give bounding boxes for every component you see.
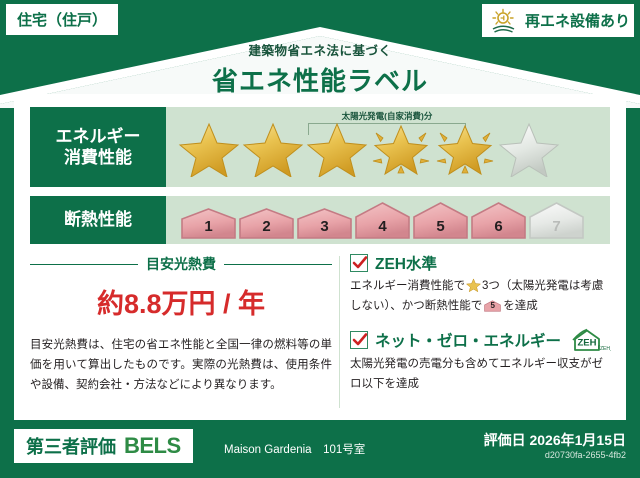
insulation-level-1-value: 1	[180, 218, 237, 235]
net-zero-checkbox[interactable]	[350, 331, 368, 349]
heading-rule-right	[224, 264, 332, 265]
zeh-desc-part1: エネルギー消費性能で	[350, 280, 465, 292]
insulation-level-7-value: 7	[528, 218, 585, 235]
insulation-level-4: 4	[354, 201, 411, 240]
inline-insulation-badge-icon: 5	[484, 299, 501, 313]
net-zero-title: ネット・ゼロ・エネルギー	[375, 329, 561, 351]
insulation-level-1: 1	[180, 207, 237, 240]
utility-cost-heading-text: 目安光熱費	[146, 254, 216, 274]
energy-star-4	[370, 117, 432, 177]
zeh-logo-icon: ZEH 「ZEH」	[571, 328, 611, 352]
zeh-desc-starcount: 3つ（太陽光発電	[482, 280, 569, 292]
title-block: 建築物省エネ法に基づく 省エネ性能ラベル	[0, 40, 640, 98]
lower-section: 目安光熱費 約8.8万円 / 年 目安光熱費は、住宅の省エネ性能と全国一律の燃料…	[14, 252, 626, 420]
check-icon	[351, 255, 369, 271]
insulation-level-6: 6	[470, 201, 527, 240]
energy-label-line1: エネルギー	[56, 126, 141, 147]
inline-insulation-badge-value: 5	[484, 299, 501, 313]
svg-text:ZEH: ZEH	[578, 338, 597, 349]
certification-net-zero-head: ネット・ゼロ・エネルギー ZEH 「ZEH」	[350, 328, 612, 352]
bels-badge: 第三者評価 BELS	[14, 429, 193, 463]
zeh-desc-part3: を達成	[503, 300, 538, 312]
evaluation-id: d20730fa-2655-4fb2	[545, 450, 626, 460]
energy-rating-track: 太陽光発電(自家消費)分	[166, 107, 610, 187]
zeh-level-description: エネルギー消費性能で3つ（太陽光発電は考慮しない）、かつ断熱性能で5を達成	[350, 277, 612, 316]
insulation-performance-row: 断熱性能 1 2	[30, 196, 610, 244]
heading-rule-left	[30, 264, 138, 265]
utility-cost-note: 目安光熱費は、住宅の省エネ性能と全国一律の燃料等の単価を用いて算出したものです。…	[30, 335, 332, 395]
utility-cost-heading: 目安光熱費	[30, 254, 332, 274]
insulation-level-3-value: 3	[296, 218, 353, 235]
utility-cost-panel: 目安光熱費 約8.8万円 / 年 目安光熱費は、住宅の省エネ性能と全国一律の燃料…	[30, 252, 332, 395]
energy-star-6	[498, 117, 560, 177]
footer: 第三者評価 BELS Maison Gardenia 101号室 評価日 202…	[0, 420, 640, 478]
renewable-energy-badge: 再エネ設備あり	[482, 4, 634, 37]
house-type-label: 住宅（住戸）	[17, 9, 107, 30]
title-subtitle: 建築物省エネ法に基づく	[0, 40, 640, 59]
energy-label-line2: 消費性能	[64, 147, 132, 168]
insulation-level-5: 5	[412, 201, 469, 240]
house-type-badge: 住宅（住戸）	[6, 4, 118, 35]
section-divider	[339, 256, 340, 408]
insulation-level-2-value: 2	[238, 218, 295, 235]
insulation-level-strip: 1 2 3 4	[180, 201, 585, 240]
insulation-level-4-value: 4	[354, 218, 411, 235]
energy-star-3	[306, 117, 368, 177]
certification-zeh-level-head: ZEH水準	[350, 252, 612, 274]
insulation-level-5-value: 5	[412, 218, 469, 235]
insulation-level-6-value: 6	[470, 218, 527, 235]
insulation-performance-label: 断熱性能	[30, 196, 166, 244]
insulation-level-2: 2	[238, 207, 295, 240]
insulation-rating-track: 1 2 3 4	[166, 196, 610, 244]
certifications-panel: ZEH水準 エネルギー消費性能で3つ（太陽光発電は考慮しない）、かつ断熱性能で5…	[350, 252, 612, 398]
inline-star-icon	[466, 277, 481, 292]
energy-performance-row: エネルギー 消費性能 太陽光発電(自家消費)分	[30, 107, 610, 187]
utility-cost-value: 約8.8万円 / 年	[30, 282, 332, 321]
energy-star-strip	[178, 117, 560, 177]
bels-prefix-label: 第三者評価	[26, 433, 116, 459]
evaluation-date: 評価日 2026年1月15日	[484, 430, 626, 450]
zeh-level-title: ZEH水準	[375, 252, 437, 274]
bels-mark-label: BELS	[124, 433, 181, 459]
page-title: 省エネ性能ラベル	[0, 61, 640, 98]
energy-star-2	[242, 117, 304, 177]
renewable-energy-label: 再エネ設備あり	[525, 10, 630, 31]
label-body-card: エネルギー 消費性能 太陽光発電(自家消費)分	[14, 94, 626, 420]
energy-star-5	[434, 117, 496, 177]
zeh-level-checkbox[interactable]	[350, 254, 368, 272]
svg-text:「ZEH」: 「ZEH」	[595, 346, 611, 352]
insulation-level-7: 7	[528, 201, 585, 240]
check-icon	[351, 332, 369, 348]
net-zero-description: 太陽光発電の売電分も含めてエネルギー収支がゼロ以下を達成	[350, 355, 612, 394]
sun-solar-icon	[490, 8, 520, 34]
energy-star-1	[178, 117, 240, 177]
certification-net-zero-energy: ネット・ゼロ・エネルギー ZEH 「ZEH」 太陽光発電の売電分も含めてエネルギ…	[350, 328, 612, 394]
insulation-level-3: 3	[296, 207, 353, 240]
certification-zeh-level: ZEH水準 エネルギー消費性能で3つ（太陽光発電は考慮しない）、かつ断熱性能で5…	[350, 252, 612, 316]
insulation-label-text: 断熱性能	[64, 209, 132, 230]
building-name: Maison Gardenia 101号室	[224, 441, 365, 457]
energy-performance-label: エネルギー 消費性能	[30, 107, 166, 187]
